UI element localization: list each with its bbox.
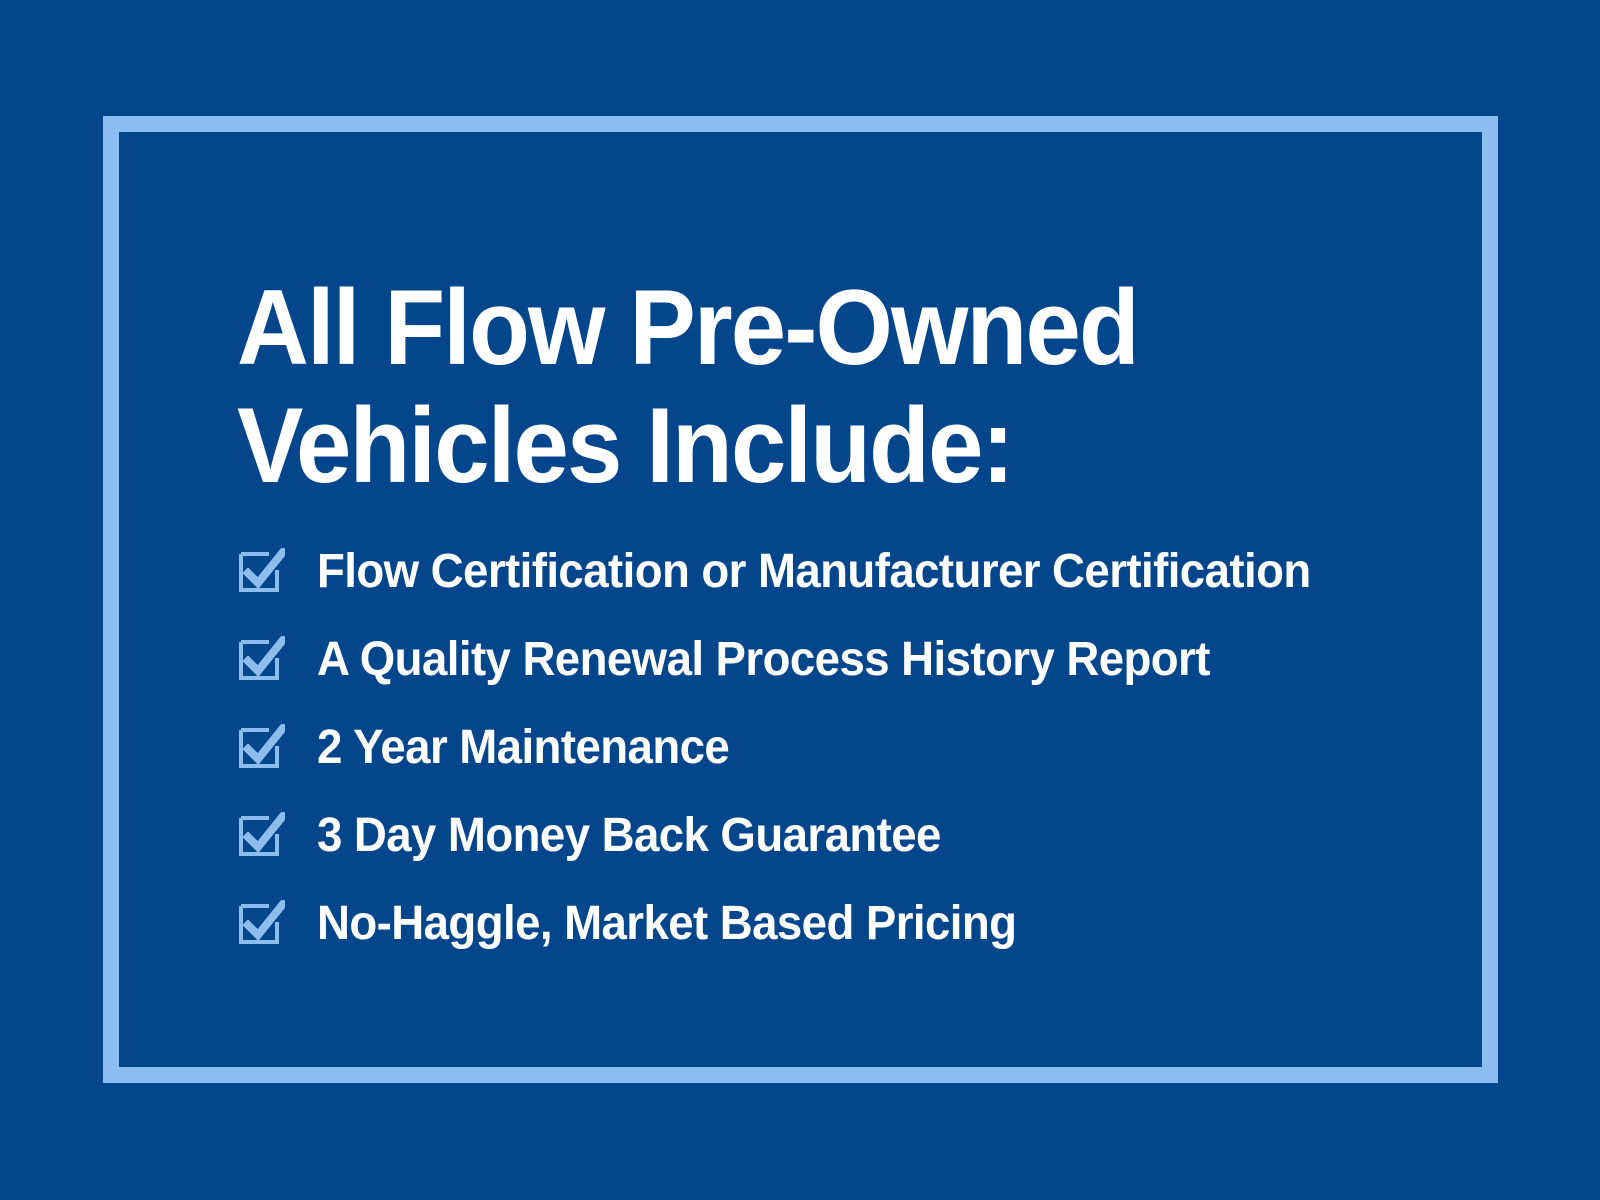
list-item: No-Haggle, Market Based Pricing (237, 880, 1447, 968)
list-item-label: 2 Year Maintenance (317, 724, 729, 772)
list-item: Flow Certification or Manufacturer Certi… (237, 528, 1447, 616)
page-title: All Flow Pre-Owned Vehicles Include: (237, 268, 1279, 504)
benefits-checklist: Flow Certification or Manufacturer Certi… (237, 528, 1447, 968)
checkbox-checked-icon (237, 548, 285, 596)
checkbox-checked-icon (237, 724, 285, 772)
checkbox-checked-icon (237, 900, 285, 948)
checkbox-checked-icon (237, 636, 285, 684)
list-item: 3 Day Money Back Guarantee (237, 792, 1447, 880)
list-item: 2 Year Maintenance (237, 704, 1447, 792)
checkbox-checked-icon (237, 812, 285, 860)
list-item-label: No-Haggle, Market Based Pricing (317, 900, 1016, 948)
list-item-label: 3 Day Money Back Guarantee (317, 812, 941, 860)
list-item-label: Flow Certification or Manufacturer Certi… (317, 548, 1311, 596)
list-item: A Quality Renewal Process History Report (237, 616, 1447, 704)
list-item-label: A Quality Renewal Process History Report (317, 636, 1210, 684)
promo-poster: All Flow Pre-Owned Vehicles Include: Flo… (0, 0, 1600, 1200)
